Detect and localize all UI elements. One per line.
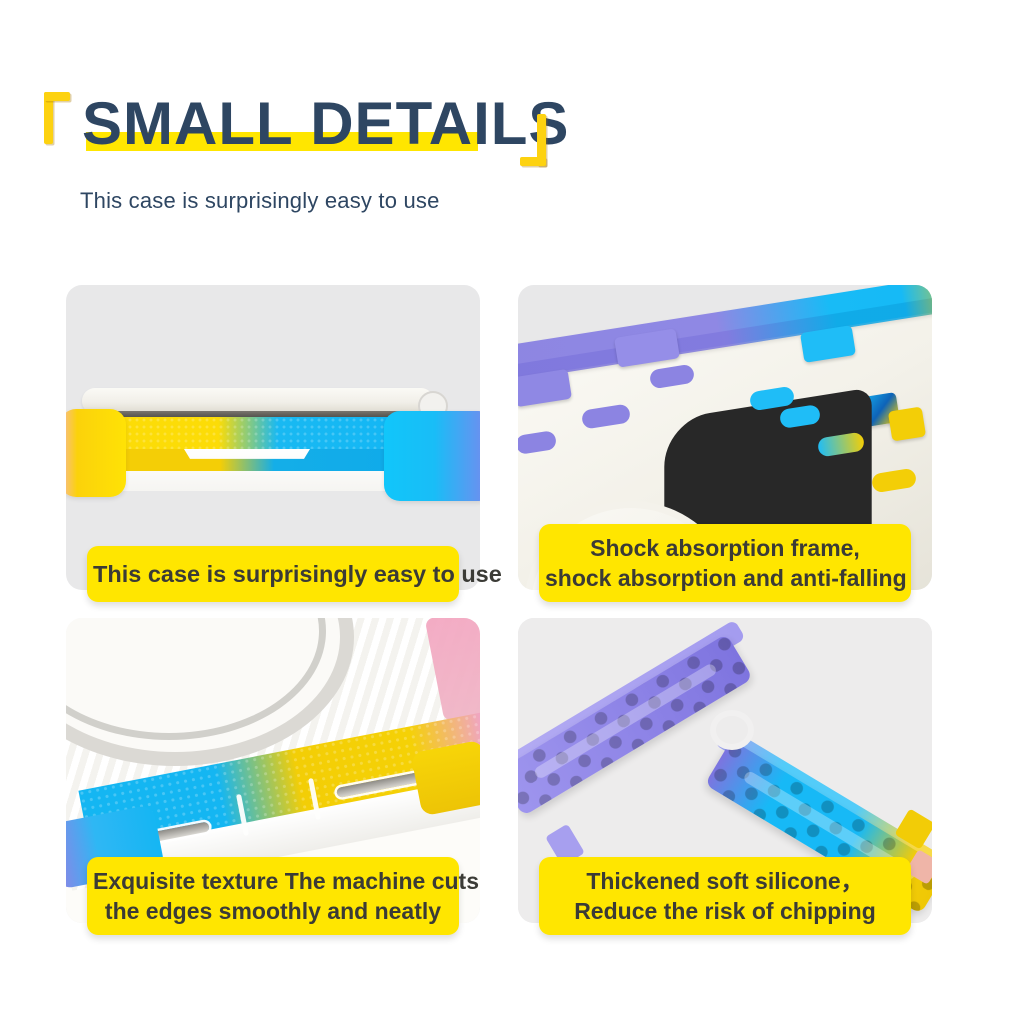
product-detail-page: SMALL DETAILS This case is surprisingly … — [0, 0, 1024, 1024]
corner-bracket-open-icon — [44, 92, 70, 144]
feature-card: This case is surprisingly easy to use — [66, 285, 480, 590]
card-caption: This case is surprisingly easy to use — [87, 546, 459, 602]
page-title-wrap: SMALL DETAILS — [82, 86, 569, 162]
corner-bumper-left — [66, 409, 126, 497]
caption-line: the edges smoothly and neatly — [93, 896, 453, 926]
feature-card: Thickened soft silicone， Reduce the risk… — [518, 618, 932, 923]
caption-line: Shock absorption frame, — [545, 533, 905, 563]
caption-line: Reduce the risk of chipping — [545, 896, 905, 926]
case-side-profile-photo — [66, 285, 480, 590]
caption-line: Thickened soft silicone， — [545, 866, 905, 896]
card-caption: Exquisite texture The machine cuts the e… — [87, 857, 459, 935]
corner-bumper-right — [411, 740, 480, 817]
corner-bumper-right — [384, 411, 480, 501]
camera-cutout — [710, 710, 754, 750]
rim-tab — [888, 407, 926, 442]
caption-line: This case is surprisingly easy to use — [93, 559, 453, 589]
feature-card-grid: This case is surprisingly easy to use — [66, 285, 958, 923]
tablet-body — [82, 388, 434, 414]
corner-bracket-close-icon — [520, 114, 546, 166]
caption-line: shock absorption and anti-falling — [545, 563, 905, 593]
card-caption: Shock absorption frame, shock absorption… — [539, 524, 911, 602]
feature-card: Shock absorption frame, shock absorption… — [518, 285, 932, 590]
feature-card: Exquisite texture The machine cuts the e… — [66, 618, 480, 923]
page-subtitle: This case is surprisingly easy to use — [80, 188, 440, 214]
card-caption: Thickened soft silicone， Reduce the risk… — [539, 857, 911, 935]
caption-line: Exquisite texture The machine cuts — [93, 866, 453, 896]
page-title: SMALL DETAILS — [82, 86, 569, 162]
